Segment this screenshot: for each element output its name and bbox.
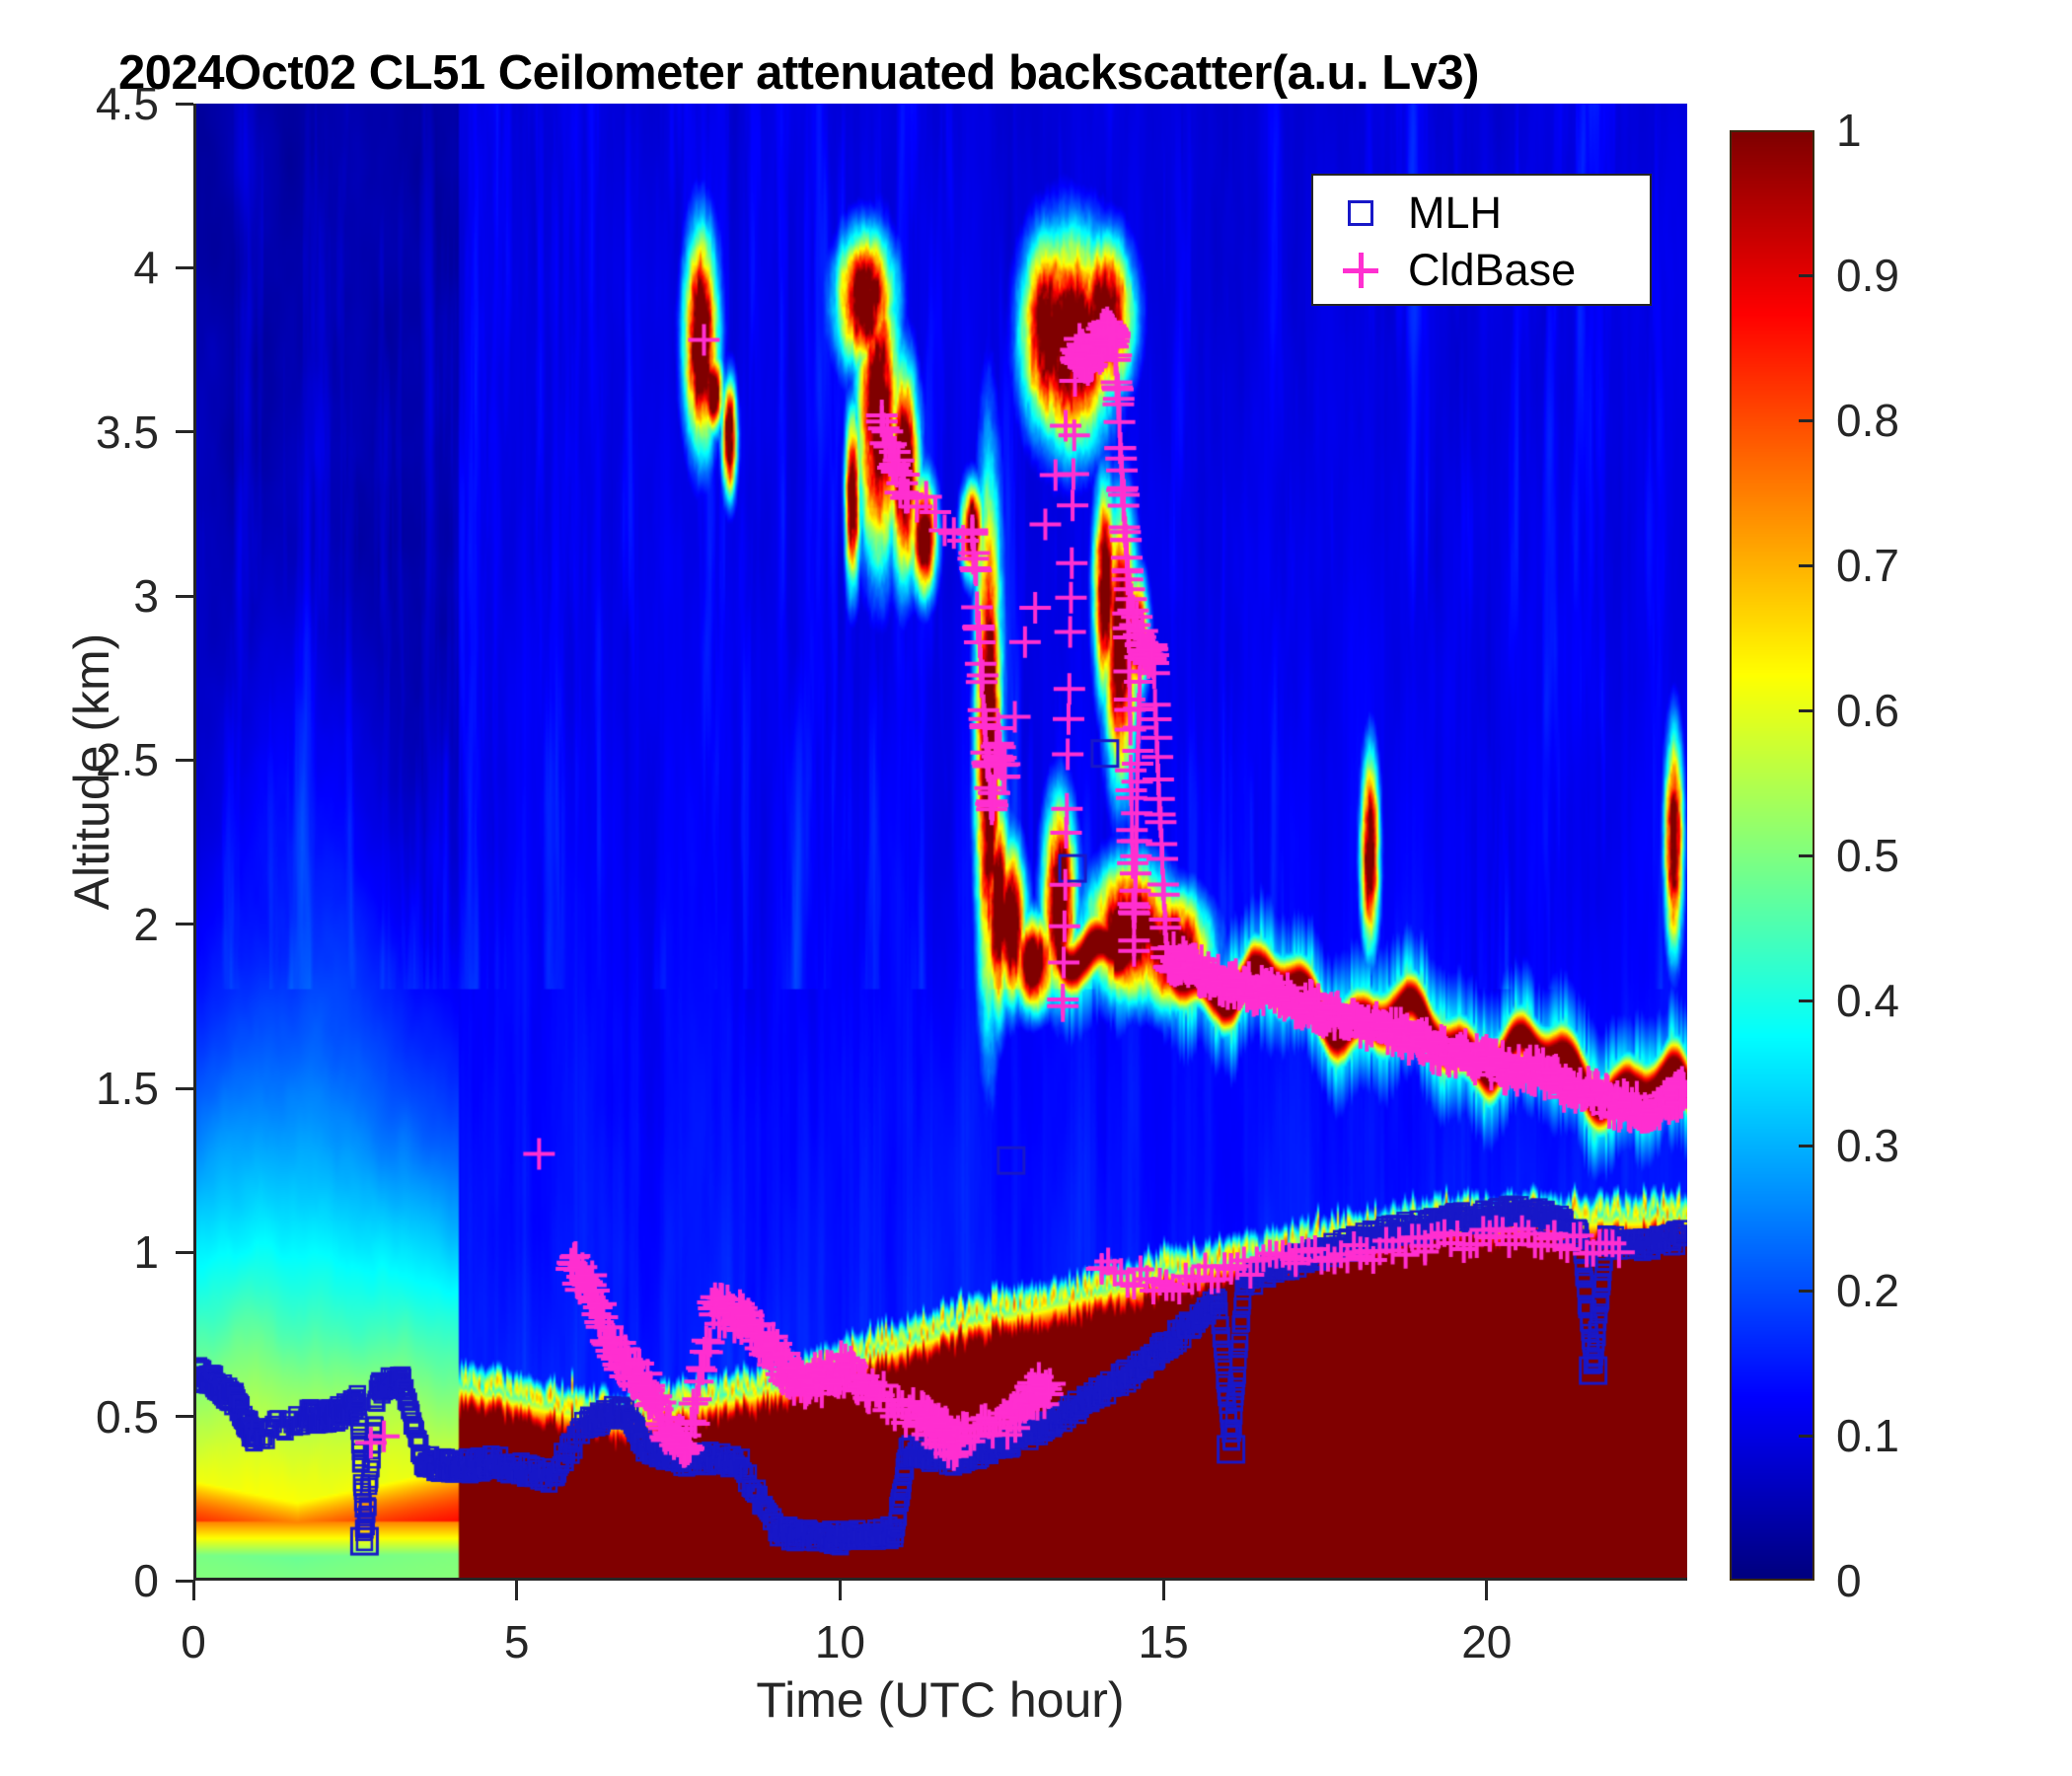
- colorbar-tick-mark: [1799, 999, 1814, 1002]
- y-tick-mark: [176, 1415, 193, 1418]
- x-tick-label: 20: [1461, 1615, 1512, 1668]
- colorbar-tick-mark: [1799, 709, 1814, 712]
- page-title: 2024Oct02 CL51 Ceilometer attenuated bac…: [118, 45, 1479, 101]
- colorbar-tick-mark: [1799, 564, 1814, 567]
- colorbar-tick-label: 0.1: [1836, 1409, 1899, 1462]
- y-axis-label: Altitude (km): [63, 476, 120, 1068]
- colorbar-tick-label: 0.8: [1836, 394, 1899, 447]
- x-tick-label: 10: [815, 1615, 865, 1668]
- colorbar-tick-mark: [1799, 419, 1814, 422]
- y-tick-mark: [176, 923, 193, 925]
- x-tick-mark: [1162, 1581, 1165, 1600]
- colorbar-tick-mark: [1799, 854, 1814, 857]
- colorbar-tick-mark: [1799, 1435, 1814, 1438]
- mlh-square-icon: [1313, 184, 1408, 243]
- y-tick-mark: [176, 103, 193, 106]
- x-tick-mark: [192, 1581, 195, 1600]
- y-tick-mark: [176, 1580, 193, 1583]
- y-tick-mark: [176, 1251, 193, 1254]
- x-tick-label: 5: [504, 1615, 530, 1668]
- cldbase-plus-icon: [1313, 241, 1408, 300]
- y-tick-label: 0: [0, 1554, 159, 1607]
- legend-item-cldbase[interactable]: CldBase: [1313, 241, 1650, 300]
- y-tick-mark: [176, 759, 193, 762]
- colorbar-tick-label: 0.7: [1836, 539, 1899, 592]
- x-tick-mark: [1485, 1581, 1488, 1600]
- y-tick-mark: [176, 1087, 193, 1090]
- colorbar-tick-mark: [1799, 274, 1814, 277]
- plot-area[interactable]: [193, 104, 1687, 1581]
- y-tick-label: 4.5: [0, 77, 159, 130]
- x-axis-label: Time (UTC hour): [193, 1671, 1687, 1729]
- marker-overlay: [196, 104, 1687, 1581]
- legend-label-cldbase: CldBase: [1408, 245, 1576, 296]
- x-tick-mark: [839, 1581, 842, 1600]
- x-tick-mark: [515, 1581, 518, 1600]
- y-tick-mark: [176, 595, 193, 598]
- colorbar-tick-label: 0.3: [1836, 1119, 1899, 1172]
- y-tick-label: 0.5: [0, 1390, 159, 1443]
- y-tick-label: 1: [0, 1225, 159, 1279]
- ceilometer-backscatter-figure: 2024Oct02 CL51 Ceilometer attenuated bac…: [0, 0, 2072, 1776]
- y-tick-label: 4: [0, 241, 159, 294]
- colorbar-tick-label: 1: [1836, 104, 1862, 157]
- y-tick-mark: [176, 430, 193, 433]
- colorbar-tick-label: 0.5: [1836, 829, 1899, 882]
- x-tick-label: 0: [181, 1615, 206, 1668]
- colorbar-tick-label: 0.4: [1836, 974, 1899, 1027]
- colorbar-tick-label: 0.6: [1836, 684, 1899, 737]
- legend-label-mlh: MLH: [1408, 187, 1502, 239]
- y-tick-label: 1.5: [0, 1062, 159, 1115]
- legend-item-mlh[interactable]: MLH: [1313, 184, 1650, 243]
- colorbar-tick-mark: [1799, 1290, 1814, 1293]
- colorbar-tick-label: 0.2: [1836, 1264, 1899, 1317]
- colorbar-tick-label: 0.9: [1836, 249, 1899, 302]
- colorbar-tick-mark: [1799, 1145, 1814, 1147]
- y-tick-label: 3.5: [0, 406, 159, 459]
- y-tick-mark: [176, 266, 193, 269]
- x-tick-label: 15: [1139, 1615, 1189, 1668]
- legend[interactable]: MLH CldBase: [1311, 174, 1652, 306]
- colorbar-tick-label: 0: [1836, 1554, 1862, 1607]
